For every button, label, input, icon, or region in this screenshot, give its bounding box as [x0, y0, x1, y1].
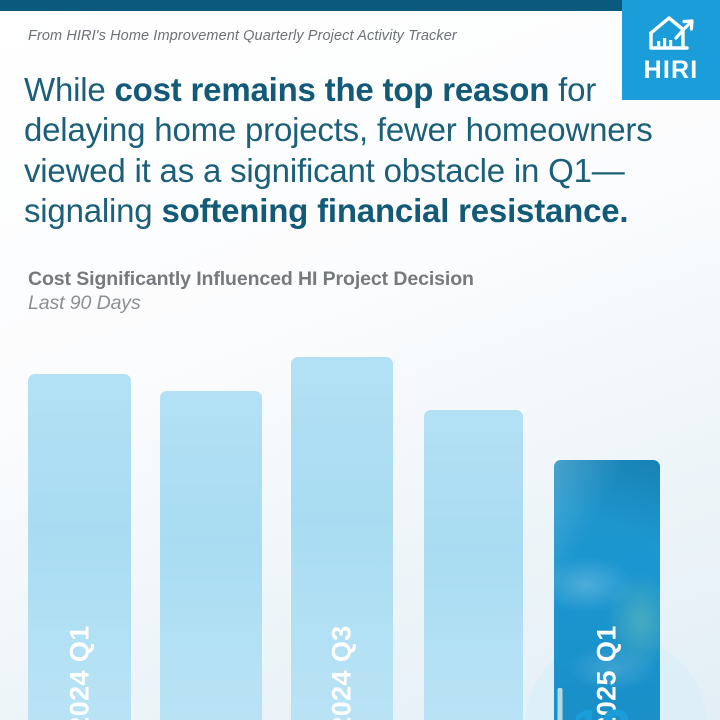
bar-2 — [160, 391, 262, 720]
infographic-canvas: HIRI From HIRI's Home Improvement Quarte… — [0, 0, 720, 720]
headline: While cost remains the top reason for de… — [24, 70, 696, 231]
arrow-down-icon — [548, 688, 572, 720]
logo-wordmark: HIRI — [644, 58, 699, 83]
callout-percent-symbol: % — [630, 715, 656, 720]
bar-3: 2024 Q3 — [291, 357, 393, 720]
bar-5: 2025 Q1 — [554, 460, 660, 720]
chart-title-main: Cost Significantly Influenced HI Project… — [28, 268, 474, 290]
bar-1: 2024 Q1 — [28, 374, 131, 720]
chart-title: Cost Significantly Influenced HI Project… — [28, 268, 498, 316]
top-accent-strip — [0, 0, 720, 11]
headline-segment-1: cost remains the top reason — [115, 71, 550, 108]
callout-number: 12 — [572, 699, 630, 720]
source-kicker: From HIRI's Home Improvement Quarterly P… — [28, 28, 457, 44]
percent-callout: 12% — [572, 702, 656, 720]
chart-title-subtitle: Last 90 Days — [28, 292, 141, 314]
bar-label-1: 2024 Q1 — [64, 625, 95, 720]
bar-chart: 12% 2024 Q12024 Q32025 Q1 — [0, 330, 720, 720]
bar-4 — [424, 410, 523, 720]
headline-segment-3: softening financial resistance. — [161, 192, 628, 229]
headline-segment-0: While — [24, 71, 115, 108]
bar-label-3: 2024 Q3 — [327, 625, 358, 720]
hiri-logo: HIRI — [622, 0, 720, 100]
house-chart-arrow-icon — [645, 14, 697, 54]
